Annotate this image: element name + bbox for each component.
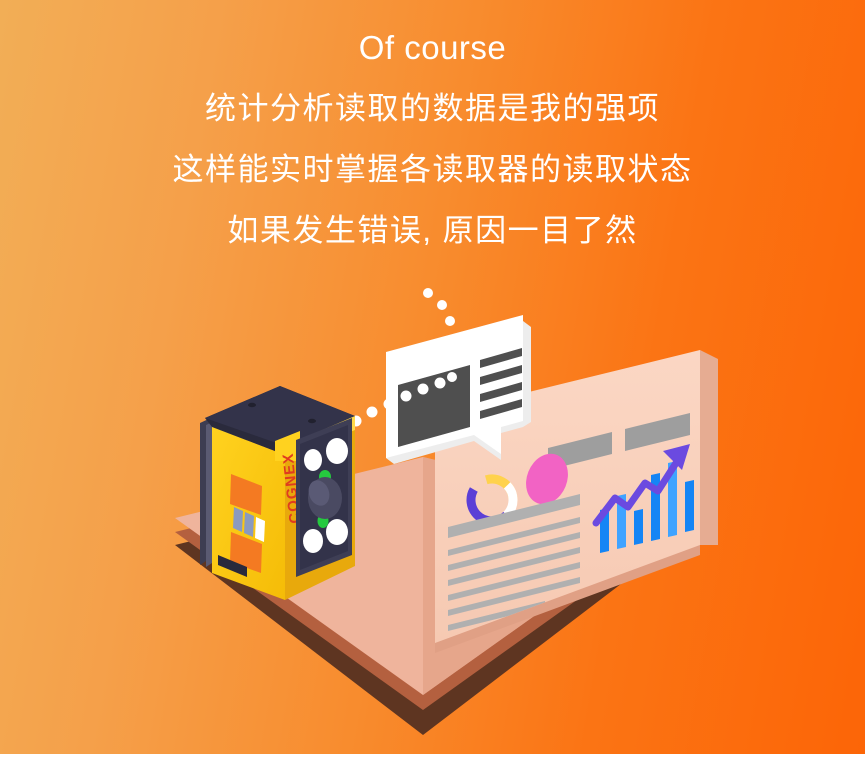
poster-canvas: Of course 统计分析读取的数据是我的强项 这样能实时掌握各读取器的读取状…	[0, 0, 865, 758]
reader-screw-1	[248, 403, 256, 407]
reader-body-left	[212, 427, 285, 600]
bar-3	[634, 509, 643, 545]
lens-led-2	[326, 438, 348, 464]
reader-screw-2	[308, 419, 316, 423]
lens-led-1	[304, 449, 322, 471]
led-pwr	[255, 517, 265, 542]
bar-6	[685, 480, 694, 532]
reader-front-labels	[230, 474, 265, 573]
lens-led-4	[326, 519, 348, 545]
page-title: Of course	[0, 0, 865, 64]
reader-lens-panel	[296, 418, 352, 577]
headline-line-2: 这样能实时掌握各读取器的读取状态	[0, 124, 865, 185]
illustration: COGNEX	[0, 255, 865, 755]
headline-line-1: 统计分析读取的数据是我的强项	[0, 64, 865, 124]
headline-block: Of course 统计分析读取的数据是我的强项 这样能实时掌握各读取器的读取状…	[0, 0, 865, 246]
headline-line-3: 如果发生错误, 原因一目了然	[0, 185, 865, 246]
barcode-reader: COGNEX	[200, 386, 355, 600]
led-link	[244, 512, 254, 537]
bar-4	[651, 473, 660, 541]
lens-led-3	[303, 529, 323, 553]
led-sts	[233, 507, 243, 532]
